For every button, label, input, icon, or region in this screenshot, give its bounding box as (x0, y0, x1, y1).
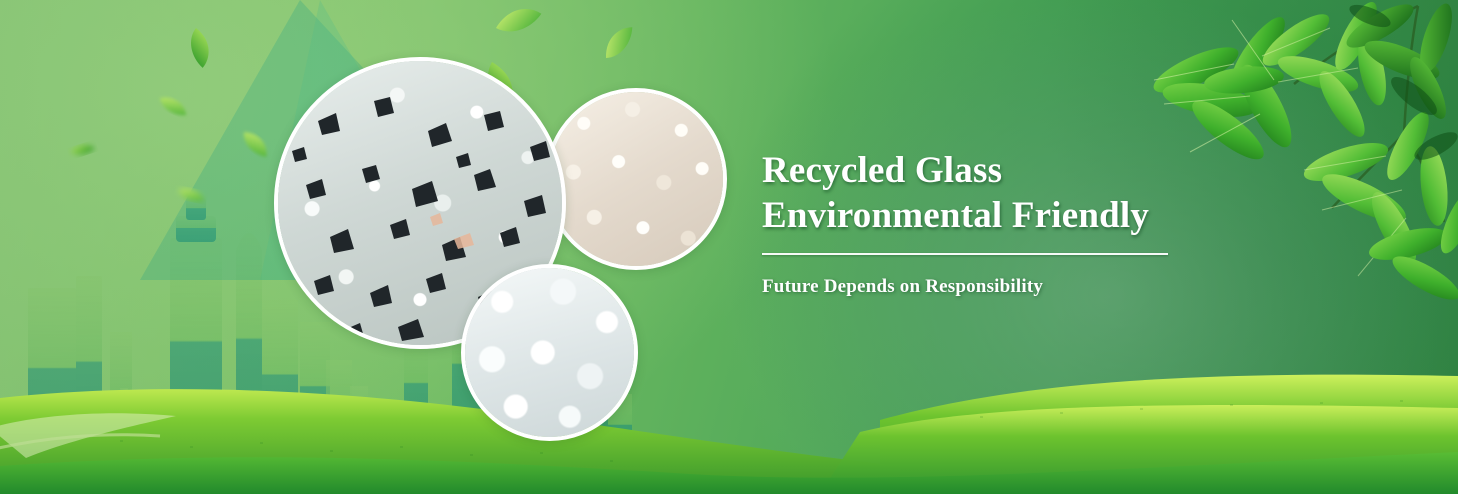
headline-line-1: Recycled Glass (762, 148, 1182, 193)
product-circle-beige-granules (545, 88, 727, 270)
recycled-glass-banner: Recycled Glass Environmental Friendly Fu… (0, 0, 1458, 494)
tagline: Future Depends on Responsibility (762, 255, 1182, 298)
product-circle-clear-chips (461, 264, 638, 441)
clear-chips-texture (465, 268, 634, 437)
headline-divider (762, 253, 1168, 255)
beige-granules-texture (549, 92, 723, 266)
banner-text-block: Recycled Glass Environmental Friendly Fu… (762, 148, 1182, 298)
headline-line-2: Environmental Friendly (762, 193, 1182, 238)
rolling-hills (0, 354, 1458, 494)
